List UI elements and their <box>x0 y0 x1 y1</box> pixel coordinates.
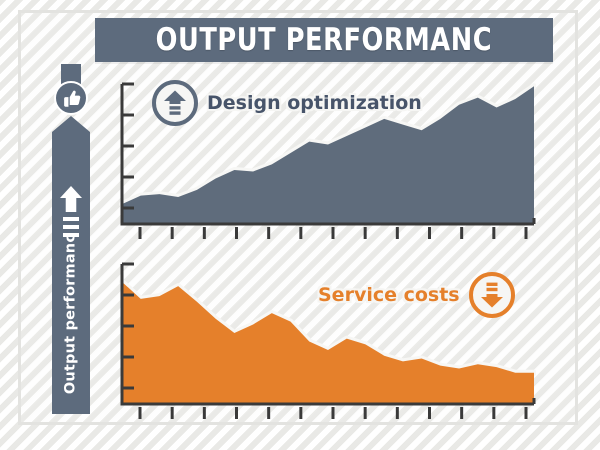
legend-label-service-costs: Service costs <box>318 284 460 306</box>
title-banner: OUTPUT PERFORMANC <box>95 18 553 62</box>
legend-label-design-optimization: Design optimization <box>207 92 422 114</box>
arrow-up-circle-icon <box>152 80 198 126</box>
thumbs-up-icon <box>54 81 88 115</box>
legend-design-optimization: Design optimization <box>152 80 422 126</box>
arrow-down-circle-icon <box>469 272 515 318</box>
up-arrow-icon: Output performanc <box>52 116 90 414</box>
infographic-canvas: OUTPUT PERFORMANC Output performanc <box>0 0 600 450</box>
sidebar-label: Output performanc <box>63 192 79 437</box>
legend-service-costs: Service costs <box>318 272 515 318</box>
page-title: OUTPUT PERFORMANC <box>156 22 492 58</box>
sidebar-arrow-panel: Output performanc <box>52 64 90 414</box>
